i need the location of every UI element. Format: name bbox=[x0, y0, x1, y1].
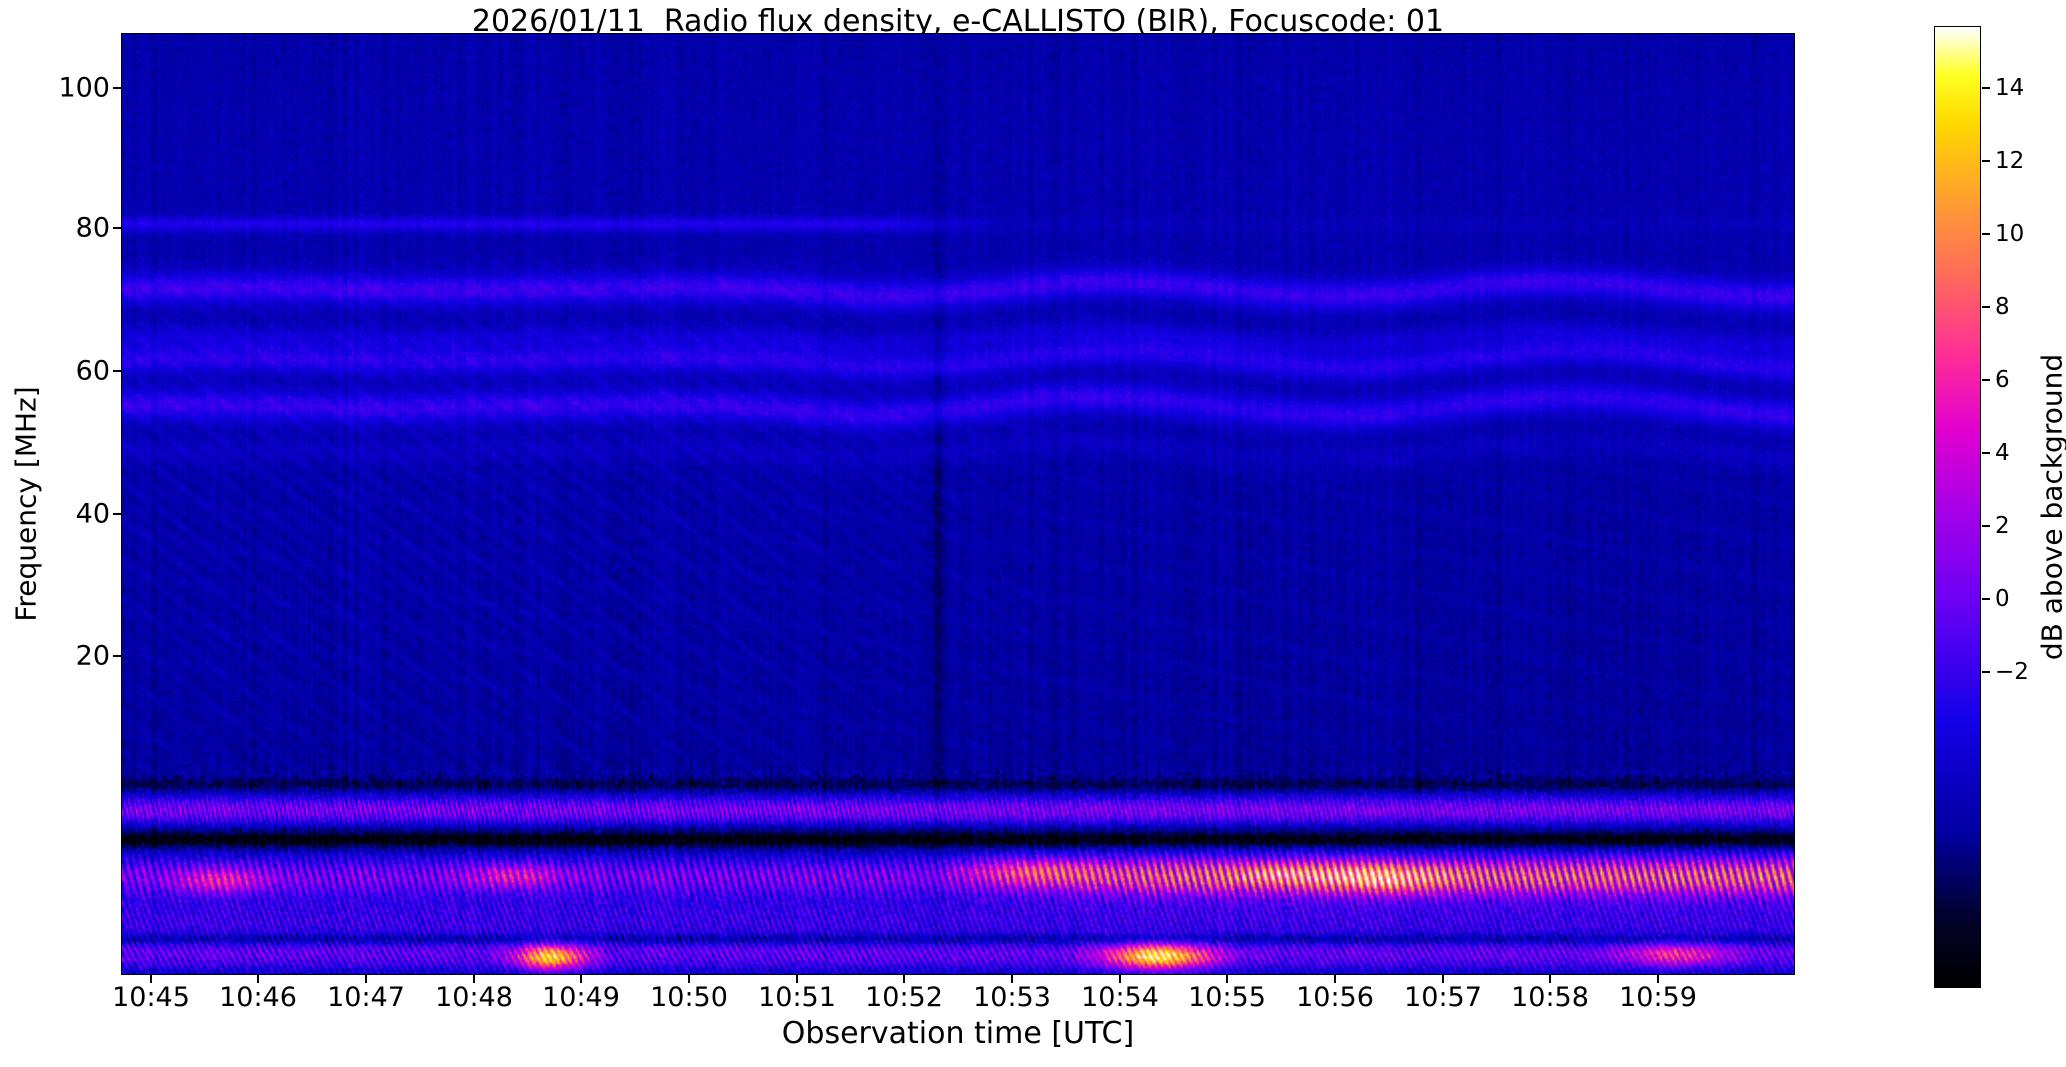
colorbar-tick-label: 2 bbox=[1995, 513, 2010, 539]
colorbar-tick-mark bbox=[1982, 233, 1990, 235]
x-tick-mark bbox=[1334, 975, 1336, 983]
colorbar-tick-mark bbox=[1982, 598, 1990, 600]
x-tick-mark bbox=[150, 975, 152, 983]
y-axis-label: Frequency [MHz] bbox=[10, 386, 43, 621]
colorbar-tick-mark bbox=[1982, 525, 1990, 527]
y-tick-label: 20 bbox=[76, 641, 110, 672]
x-tick-mark bbox=[1119, 975, 1121, 983]
x-tick-mark bbox=[1226, 975, 1228, 983]
y-tick-mark bbox=[113, 227, 121, 229]
colorbar-tick-label: 4 bbox=[1995, 440, 2010, 466]
colorbar-tick-label: 6 bbox=[1995, 367, 2010, 393]
x-axis-label: Observation time [UTC] bbox=[782, 1016, 1134, 1051]
x-tick-mark bbox=[1549, 975, 1551, 983]
x-tick-label: 10:55 bbox=[1188, 982, 1266, 1013]
x-tick-mark bbox=[365, 975, 367, 983]
y-tick-mark bbox=[113, 655, 121, 657]
x-tick-label: 10:56 bbox=[1296, 982, 1374, 1013]
x-tick-mark bbox=[796, 975, 798, 983]
x-tick-label: 10:52 bbox=[865, 982, 943, 1013]
colorbar-tick-mark bbox=[1982, 87, 1990, 89]
x-tick-label: 10:47 bbox=[327, 982, 405, 1013]
x-tick-mark bbox=[1442, 975, 1444, 983]
x-tick-label: 10:48 bbox=[435, 982, 513, 1013]
colorbar-tick-label: 0 bbox=[1995, 586, 2010, 612]
y-tick-label: 40 bbox=[76, 499, 110, 530]
x-tick-label: 10:51 bbox=[758, 982, 836, 1013]
x-tick-mark bbox=[688, 975, 690, 983]
colorbar-tick-mark bbox=[1982, 306, 1990, 308]
x-tick-label: 10:59 bbox=[1619, 982, 1697, 1013]
x-tick-mark bbox=[473, 975, 475, 983]
colorbar-label: dB above background bbox=[2036, 354, 2066, 660]
x-tick-label: 10:57 bbox=[1404, 982, 1482, 1013]
spectrogram-image bbox=[122, 34, 1794, 974]
y-tick-label: 100 bbox=[58, 73, 110, 104]
x-tick-mark bbox=[903, 975, 905, 983]
colorbar-tick-mark bbox=[1982, 452, 1990, 454]
x-tick-mark bbox=[580, 975, 582, 983]
y-tick-label: 80 bbox=[76, 213, 110, 244]
colorbar-tick-mark bbox=[1982, 160, 1990, 162]
colorbar-tick-label: 14 bbox=[1995, 75, 2024, 101]
colorbar-tick-mark bbox=[1982, 379, 1990, 381]
colorbar-gradient bbox=[1935, 27, 1980, 987]
x-tick-label: 10:49 bbox=[542, 982, 620, 1013]
x-tick-mark bbox=[1657, 975, 1659, 983]
spectrogram-plot-area[interactable] bbox=[121, 33, 1795, 975]
y-tick-mark bbox=[113, 513, 121, 515]
colorbar[interactable] bbox=[1934, 26, 1981, 988]
x-tick-mark bbox=[1011, 975, 1013, 983]
colorbar-tick-label: 12 bbox=[1995, 148, 2024, 174]
y-tick-mark bbox=[113, 370, 121, 372]
colorbar-tick-label: −2 bbox=[1995, 659, 2029, 685]
x-tick-label: 10:50 bbox=[650, 982, 728, 1013]
x-tick-label: 10:54 bbox=[1081, 982, 1159, 1013]
x-tick-label: 10:58 bbox=[1511, 982, 1589, 1013]
y-tick-mark bbox=[113, 87, 121, 89]
colorbar-tick-label: 8 bbox=[1995, 294, 2010, 320]
x-tick-label: 10:45 bbox=[112, 982, 190, 1013]
x-tick-label: 10:46 bbox=[219, 982, 297, 1013]
y-tick-label: 60 bbox=[76, 356, 110, 387]
colorbar-tick-label: 10 bbox=[1995, 221, 2024, 247]
x-tick-mark bbox=[257, 975, 259, 983]
x-tick-label: 10:53 bbox=[973, 982, 1051, 1013]
colorbar-tick-mark bbox=[1982, 671, 1990, 673]
